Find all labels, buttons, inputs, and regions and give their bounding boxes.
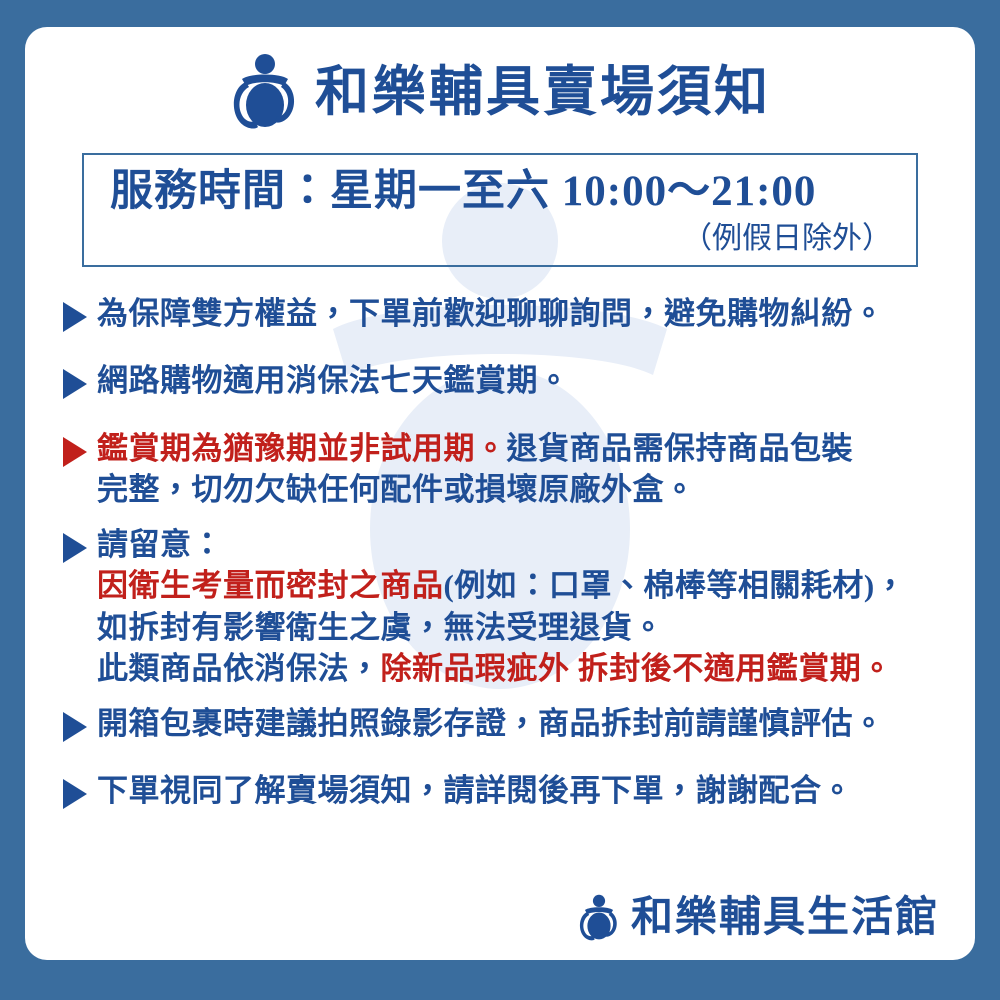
notice-text: 鑑賞期為猶豫期並非試用期。退貨商品需保持商品包裝完整，切勿欠缺任何配件或損壞原廠… <box>97 428 953 510</box>
notice-list: 為保障雙方權益，下單前歡迎聊聊詢問，避免購物糾紛。網路購物適用消保法七天鑑賞期。… <box>25 293 975 811</box>
notice-segment: 此類商品依消保法， <box>97 651 381 686</box>
notice-line: 為保障雙方權益，下單前歡迎聊聊詢問，避免購物糾紛。 <box>97 293 953 334</box>
notice-text: 網路購物適用消保法七天鑑賞期。 <box>97 360 953 401</box>
notice-line: 鑑賞期為猶豫期並非試用期。退貨商品需保持商品包裝 <box>97 428 953 469</box>
notice-segment: 開箱包裹時建議拍照錄影存證，商品拆封前請謹慎評估。 <box>97 706 885 741</box>
notice-segment: 下單視同了解賣場須知，請詳閱後再下單，謝謝配合。 <box>97 773 853 808</box>
notice-segment: 請留意： <box>97 527 223 562</box>
triangle-right-icon <box>63 533 87 563</box>
notice-segment: 完整，切勿欠缺任何配件或損壞原廠外盒。 <box>97 472 696 507</box>
triangle-right-icon <box>63 437 87 467</box>
notice-segment: (例如：口罩、棉棒等相關耗材)， <box>444 568 907 603</box>
notice-segment: 除新品瑕疵外 拆封後不適用鑑賞期。 <box>381 651 893 686</box>
notice-segment: 如拆封有影響衛生之虞，無法受理退貨。 <box>97 610 664 645</box>
notice-segment: 網路購物適用消保法七天鑑賞期。 <box>97 363 570 398</box>
notice-line: 下單視同了解賣場須知，請詳閱後再下單，謝謝配合。 <box>97 770 953 811</box>
notice-segment: 因衛生考量而密封之商品 <box>97 568 444 603</box>
triangle-right-icon <box>63 712 87 742</box>
poster-content: 和樂輔具賣場須知 服務時間：星期一至六 10:00～21:00 （例假日除外） … <box>25 27 975 960</box>
service-hours-note: （例假日除外） <box>102 220 898 258</box>
wheelchair-person-logo-icon <box>577 894 621 942</box>
service-hours-main: 服務時間：星期一至六 10:00～21:00 <box>102 167 898 218</box>
footer: 和樂輔具生活館 <box>577 894 939 942</box>
poster-page: 和樂輔具賣場須知 服務時間：星期一至六 10:00～21:00 （例假日除外） … <box>0 0 1000 1000</box>
notice-line: 請留意： <box>97 524 953 565</box>
notice-line: 開箱包裹時建議拍照錄影存證，商品拆封前請謹慎評估。 <box>97 703 953 744</box>
notice-segment: 退貨商品需保持商品包裝 <box>507 431 854 466</box>
triangle-right-icon <box>63 369 87 399</box>
notice-item: 為保障雙方權益，下單前歡迎聊聊詢問，避免購物糾紛。 <box>63 293 953 334</box>
notice-item: 請留意：因衛生考量而密封之商品(例如：口罩、棉棒等相關耗材)，如拆封有影響衛生之… <box>63 524 953 689</box>
notice-item: 開箱包裹時建議拍照錄影存證，商品拆封前請謹慎評估。 <box>63 703 953 744</box>
wheelchair-person-logo-icon <box>229 53 301 131</box>
service-hours-box: 服務時間：星期一至六 10:00～21:00 （例假日除外） <box>82 153 918 267</box>
notice-line: 因衛生考量而密封之商品(例如：口罩、棉棒等相關耗材)， <box>97 565 953 606</box>
notice-segment: 鑑賞期為猶豫期並非試用期。 <box>97 431 507 466</box>
page-title: 和樂輔具賣場須知 <box>315 65 771 119</box>
notice-segment: 為保障雙方權益，下單前歡迎聊聊詢問，避免購物糾紛。 <box>97 296 885 331</box>
notice-line: 網路購物適用消保法七天鑑賞期。 <box>97 360 953 401</box>
triangle-right-icon <box>63 779 87 809</box>
triangle-right-icon <box>63 302 87 332</box>
footer-brand-name: 和樂輔具生活館 <box>631 897 939 939</box>
notice-item: 鑑賞期為猶豫期並非試用期。退貨商品需保持商品包裝完整，切勿欠缺任何配件或損壞原廠… <box>63 428 953 510</box>
poster-card: 和樂輔具賣場須知 服務時間：星期一至六 10:00～21:00 （例假日除外） … <box>25 27 975 960</box>
notice-line: 完整，切勿欠缺任何配件或損壞原廠外盒。 <box>97 469 953 510</box>
notice-item: 下單視同了解賣場須知，請詳閱後再下單，謝謝配合。 <box>63 770 953 811</box>
notice-text: 請留意：因衛生考量而密封之商品(例如：口罩、棉棒等相關耗材)，如拆封有影響衛生之… <box>97 524 953 689</box>
notice-text: 為保障雙方權益，下單前歡迎聊聊詢問，避免購物糾紛。 <box>97 293 953 334</box>
notice-text: 開箱包裹時建議拍照錄影存證，商品拆封前請謹慎評估。 <box>97 703 953 744</box>
header: 和樂輔具賣場須知 <box>25 27 975 131</box>
notice-item: 網路購物適用消保法七天鑑賞期。 <box>63 360 953 401</box>
notice-line: 如拆封有影響衛生之虞，無法受理退貨。 <box>97 607 953 648</box>
notice-text: 下單視同了解賣場須知，請詳閱後再下單，謝謝配合。 <box>97 770 953 811</box>
notice-line: 此類商品依消保法，除新品瑕疵外 拆封後不適用鑑賞期。 <box>97 648 953 689</box>
